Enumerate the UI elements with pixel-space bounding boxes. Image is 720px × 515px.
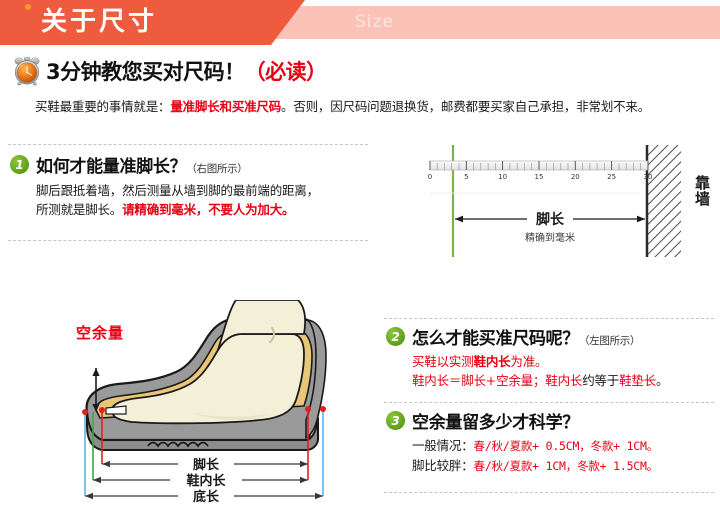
section-1-line2-emphasis: 请精确到毫米，不要人为加大。 (122, 202, 294, 217)
section-1-title: 如何才能量准脚长？（右图所示） (36, 152, 248, 177)
page-header-banner: 关于尺寸 Size (0, 0, 720, 45)
section-number-badge: 2 (386, 327, 405, 346)
ruler-tick-label: 10 (498, 173, 507, 181)
section-2-line1-b: 鞋内长 (474, 354, 511, 369)
ruler-tick-label: 20 (571, 173, 580, 181)
separator-line (384, 402, 714, 403)
section-2-line2-a: 鞋内长＝脚长+空余量； (412, 373, 545, 388)
section-3-title: 空余量留多少才科学？ (412, 408, 579, 433)
section-1-heading: 1 如何才能量准脚长？（右图所示） (10, 152, 319, 177)
shoe-cross-section-diagram: 脚长 鞋内长 底长 空余量 (40, 300, 375, 511)
dimension-inner-length-label: 鞋内长 (186, 473, 226, 489)
section-3-title-text: 空余量留多少才科学？ (412, 413, 579, 433)
ruler-measure-sub: 精确到毫米 (525, 231, 575, 244)
section-2-line2-c: 约等于 (582, 373, 619, 388)
section-2-line2-e: 。 (656, 373, 668, 388)
section-2-line1-a: 买鞋以实测 (412, 354, 474, 369)
banner-accent-dot-icon (25, 4, 31, 10)
separator-line (8, 240, 368, 241)
ruler-wall-diagram: 0 5 10 15 20 25 30 脚长 精确到毫米 靠墙 (400, 145, 720, 257)
section-1-line2-plain: 所测就是脚长。 (36, 202, 122, 217)
page-subtitle: Size (355, 10, 394, 35)
section-2-line2: 鞋内长＝脚长+空余量；鞋内长约等于鞋垫长。 (412, 371, 668, 390)
intro-part2: 。否则，因尺码问题退换货，邮费都要买家自己承担，非常划不来。 (281, 99, 650, 114)
section-3-body: 一般情况：春/秋/夏款+ 0.5CM，冬款+ 1CM。 脚比较胖：春/秋/夏款+… (412, 436, 658, 476)
page-title: 关于尺寸 (41, 4, 157, 40)
wall-label: 靠墙 (692, 175, 713, 207)
section-2-note: （左图所示） (579, 335, 640, 347)
section-how-to-pick-size: 2 怎么才能买准尺码呢？（左图所示） 买鞋以实测鞋内长为准。 鞋内长＝脚长+空余… (386, 324, 668, 390)
section-1-body: 脚后跟抵着墙，然后测量从墙到脚的最前端的距离， 所测就是脚长。请精确到毫米，不要… (36, 181, 319, 219)
headline-row: 3分钟教您买对尺码！ （必读） (12, 55, 327, 87)
section-2-body: 买鞋以实测鞋内长为准。 鞋内长＝脚长+空余量；鞋内长约等于鞋垫长。 (412, 352, 668, 390)
section-1-note: （右图所示） (186, 163, 247, 175)
section-3-row2-label: 脚比较胖： (412, 458, 474, 473)
section-3-row2-value: 春/秋/夏款+ 1CM，冬款+ 1.5CM。 (474, 459, 659, 473)
section-2-line2-b: 鞋内长 (545, 373, 582, 388)
section-3-heading: 3 空余量留多少才科学？ (386, 408, 658, 433)
alarm-clock-icon (12, 56, 42, 86)
intro-part1: 买鞋最重要的事情就是： (35, 99, 170, 114)
section-1-title-text: 如何才能量准脚长？ (36, 157, 186, 177)
section-3-row1-label: 一般情况： (412, 438, 474, 453)
headline-main-text: 3分钟教您买对尺码！ (46, 56, 245, 86)
section-3-row1-value: 春/秋/夏款+ 0.5CM，冬款+ 1CM。 (474, 439, 659, 453)
section-2-heading: 2 怎么才能买准尺码呢？（左图所示） (386, 324, 668, 349)
ruler-measure-label: 脚长 (536, 211, 565, 228)
headline-emphasis-text: （必读） (245, 56, 327, 86)
intro-paragraph: 买鞋最重要的事情就是：量准脚长和买准尺码。否则，因尺码问题退换货，邮费都要买家自… (35, 98, 650, 116)
ruler-tick-label: 25 (607, 173, 616, 181)
section-2-title-text: 怎么才能买准尺码呢？ (412, 329, 579, 349)
separator-line (384, 318, 714, 319)
section-1-line2: 所测就是脚长。请精确到毫米，不要人为加大。 (36, 200, 319, 219)
ruler-tick-label: 0 (428, 173, 432, 181)
dimension-foot-length-label: 脚长 (193, 457, 220, 473)
dimension-sole-length-label: 底长 (193, 489, 220, 505)
gap-allowance-label: 空余量 (76, 322, 124, 343)
section-2-line1: 买鞋以实测鞋内长为准。 (412, 352, 668, 371)
section-3-row2: 脚比较胖：春/秋/夏款+ 1CM，冬款+ 1.5CM。 (412, 456, 658, 476)
ruler-tick-label: 5 (464, 173, 468, 181)
separator-line (384, 492, 714, 493)
section-how-to-measure: 1 如何才能量准脚长？（右图所示） 脚后跟抵着墙，然后测量从墙到脚的最前端的距离… (10, 152, 319, 219)
intro-highlight: 量准脚长和买准尺码 (170, 99, 281, 114)
section-3-row1: 一般情况：春/秋/夏款+ 0.5CM，冬款+ 1CM。 (412, 436, 658, 456)
ruler-tick-label: 15 (535, 173, 544, 181)
section-how-much-allowance: 3 空余量留多少才科学？ 一般情况：春/秋/夏款+ 0.5CM，冬款+ 1CM。… (386, 408, 658, 476)
section-2-line1-c: 为准。 (510, 354, 547, 369)
section-2-title: 怎么才能买准尺码呢？（左图所示） (412, 324, 640, 349)
section-number-badge: 1 (10, 155, 29, 174)
banner-light-panel (265, 6, 720, 39)
section-number-badge: 3 (386, 411, 405, 430)
separator-line (8, 144, 368, 145)
section-2-line2-d: 鞋垫长 (619, 373, 656, 388)
section-1-line1: 脚后跟抵着墙，然后测量从墙到脚的最前端的距离， (36, 181, 319, 200)
ruler-tick-label: 30 (644, 173, 653, 181)
